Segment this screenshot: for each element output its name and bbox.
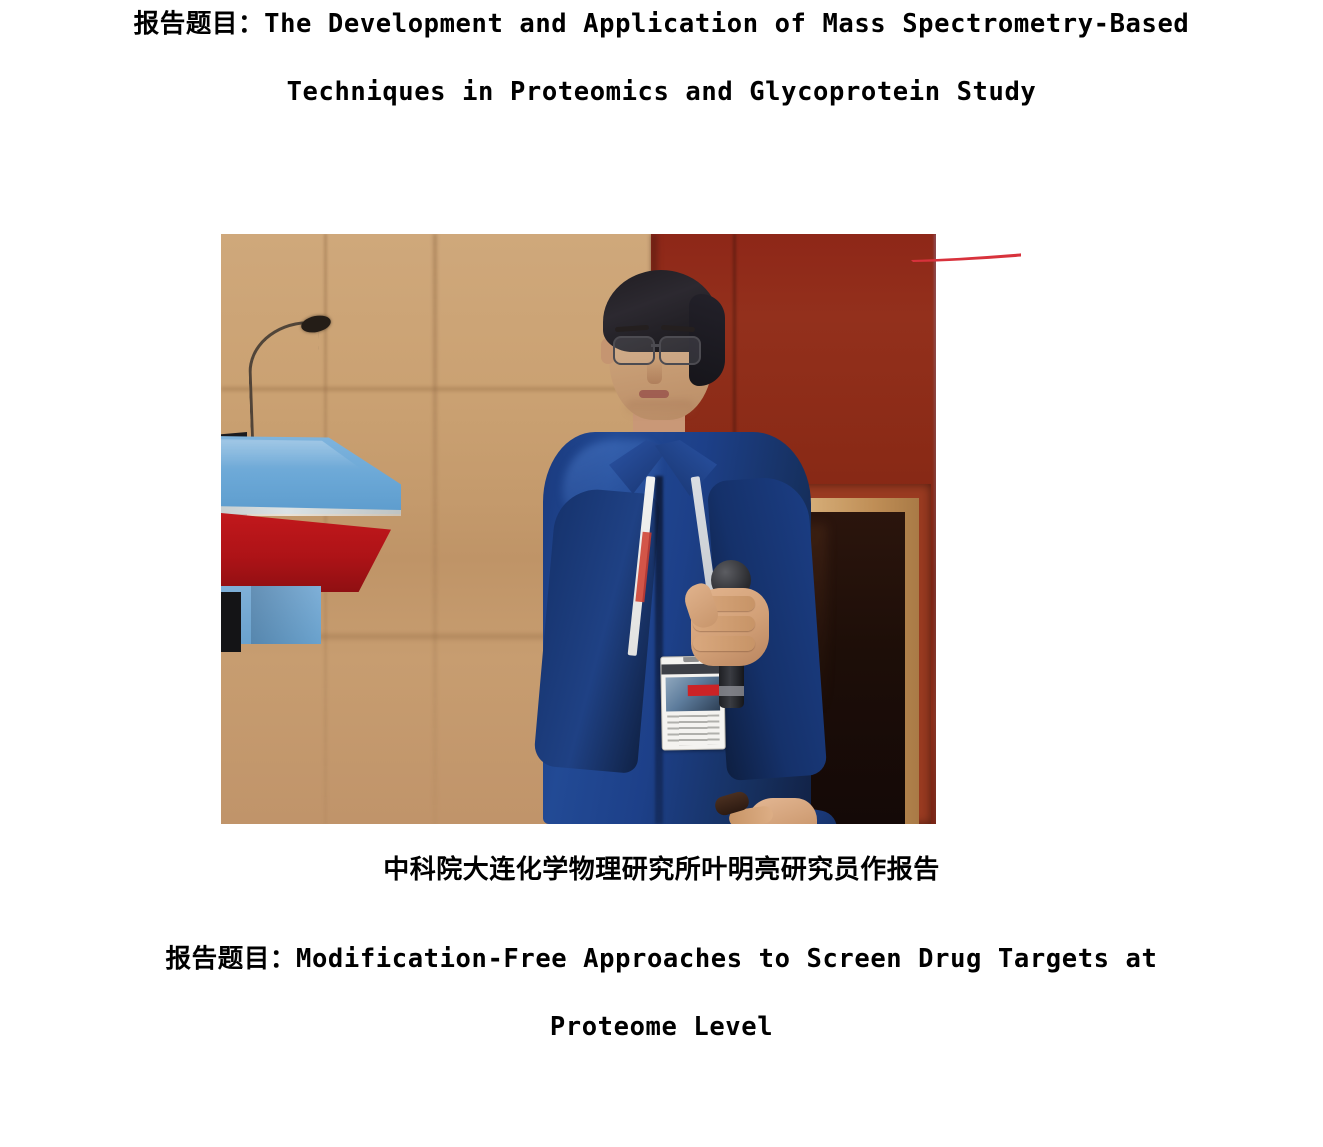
- speaker-figure: [551, 264, 851, 824]
- bottom-title-line-1: 报告题目：Modification-Free Approaches to Scr…: [0, 947, 1323, 973]
- top-title-line-2: Techniques in Proteomics and Glycoprotei…: [0, 80, 1323, 106]
- red-swoosh-svg: [911, 236, 1021, 262]
- handheld-microphone-ring: [719, 686, 744, 696]
- speaker-photograph: M: [221, 234, 1021, 824]
- speaker-mouth: [639, 390, 669, 398]
- badge-red-banner: [688, 684, 722, 696]
- speaker-nose: [647, 360, 662, 384]
- podium-base-shadow: [251, 586, 321, 644]
- photo-scene: [221, 234, 936, 824]
- red-swoosh-accent: [911, 236, 1021, 262]
- jacket-placket: [655, 476, 663, 824]
- bottom-title-line-2: Proteome Level: [0, 1015, 1323, 1041]
- hand-finger-3: [693, 636, 755, 651]
- top-title-block: 报告题目：The Development and Application of …: [0, 12, 1323, 105]
- wall-seam-vertical-2: [433, 234, 437, 824]
- hand-holding-clicker: [729, 786, 821, 824]
- top-title-line-1: 报告题目：The Development and Application of …: [0, 12, 1323, 38]
- eyeglasses-bridge: [651, 344, 659, 347]
- photo-white-margin: [936, 234, 1021, 824]
- eyeglasses-right-lens: [659, 336, 701, 365]
- brand-logo-letter-m: M: [1016, 326, 1021, 412]
- photo-caption: 中科院大连化学物理研究所叶明亮研究员作报告: [0, 857, 1323, 883]
- hand-holding-microphone: [677, 566, 773, 686]
- bottom-title-block: 报告题目：Modification-Free Approaches to Scr…: [0, 947, 1323, 1040]
- badge-text-lines: [667, 715, 720, 746]
- speaker-chin-shadow: [625, 400, 695, 418]
- podium-stand: [221, 592, 241, 652]
- document-page: 报告题目：The Development and Application of …: [0, 0, 1323, 1147]
